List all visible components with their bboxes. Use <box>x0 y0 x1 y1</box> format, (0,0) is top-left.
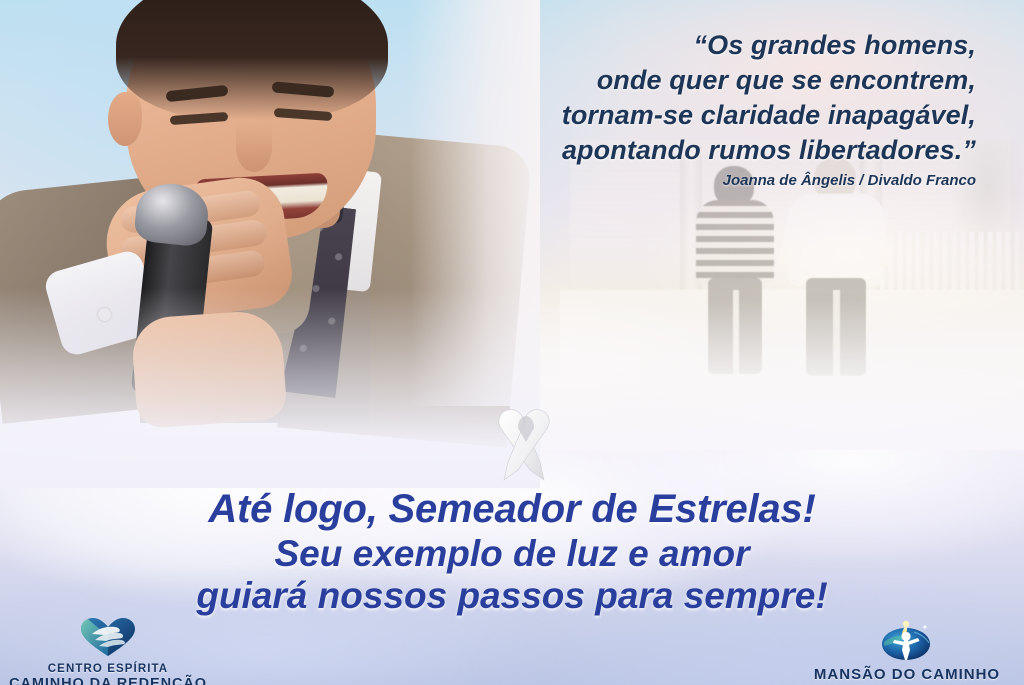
headline-line-1: Até logo, Semeador de Estrelas! <box>0 487 1024 533</box>
headline: Até logo, Semeador de Estrelas! Seu exem… <box>0 487 1024 617</box>
globe-figure-icon <box>802 618 1012 667</box>
logo-right-text: MANSÃO DO CAMINHO <box>802 667 1012 684</box>
quote-line-4: apontando rumos libertadores.” <box>356 133 976 168</box>
heart-hands-icon <box>8 618 208 663</box>
quote-line-2: onde quer que se encontrem, <box>356 63 976 98</box>
hair <box>116 0 388 120</box>
quote-line-3: tornam-se claridade inapagável, <box>356 98 976 133</box>
quote-attribution: Joanna de Ângelis / Divaldo Franco <box>356 172 976 189</box>
headline-line-2: Seu exemplo de luz e amor <box>0 533 1024 575</box>
logo-mansao-do-caminho: MANSÃO DO CAMINHO <box>802 618 1012 684</box>
logo-left-text: CENTRO ESPÍRITA CAMINHO DA REDENÇÃO <box>8 663 208 685</box>
ear <box>108 92 142 146</box>
photo-haze-overlay <box>540 300 1024 450</box>
logo-right-line-1: MANSÃO DO CAMINHO <box>802 667 1012 684</box>
poster-canvas: “Os grandes homens, onde quer que se enc… <box>0 0 1024 685</box>
person-torso <box>696 200 774 284</box>
logo-left-line-1: CENTRO ESPÍRITA <box>8 663 208 676</box>
photo-fence <box>880 232 1020 294</box>
portrait-bottom-fade <box>0 288 540 488</box>
logo-left-line-2: CAMINHO DA REDENÇÃO <box>8 676 208 685</box>
person-torso <box>788 194 884 286</box>
nose <box>236 124 272 172</box>
quote-line-1: “Os grandes homens, <box>356 28 976 63</box>
logo-centro-espirita: CENTRO ESPÍRITA CAMINHO DA REDENÇÃO <box>8 618 208 685</box>
mourning-ribbon-icon <box>476 406 572 490</box>
quote-text: “Os grandes homens, onde quer que se enc… <box>356 28 976 168</box>
headline-line-3: guiará nossos passos para sempre! <box>0 575 1024 617</box>
